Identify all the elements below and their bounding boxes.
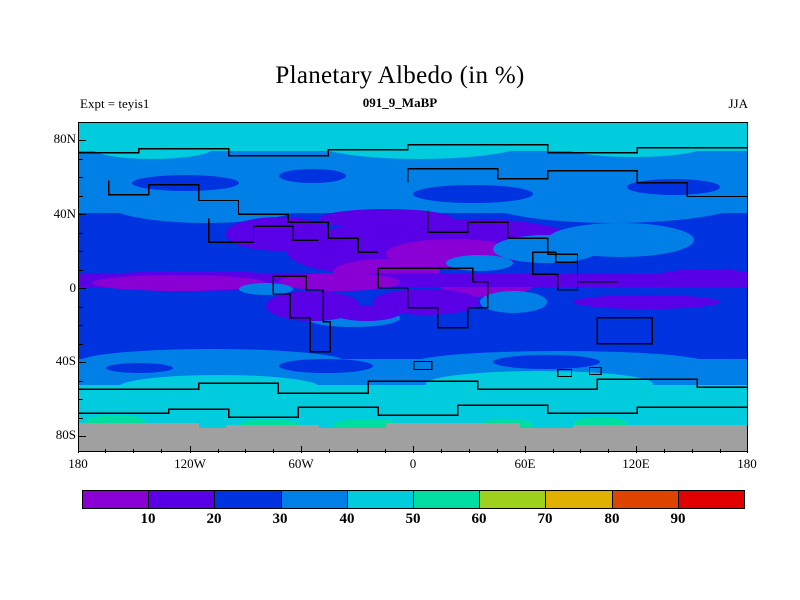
y-tick-0: 0 [16, 280, 76, 296]
y-tick-mark [78, 214, 86, 215]
colorbar-band-60-70 [480, 491, 546, 508]
season-label: JJA [660, 96, 748, 112]
y-tick-40n: 40N [16, 206, 76, 222]
colorbar-label-30: 30 [260, 511, 300, 528]
y-tick-mark [78, 362, 86, 363]
x-tick-180w: 180 [48, 456, 108, 472]
colorbar-band-0-10 [83, 491, 149, 508]
colorbar-band-80-90 [613, 491, 679, 508]
colorbar-band-90-100 [679, 491, 744, 508]
y-tick-mark [78, 307, 83, 308]
y-tick-mark [78, 436, 86, 437]
y-tick-mark [78, 325, 83, 326]
colorbar-label-90: 90 [658, 511, 698, 528]
y-tick-80s: 80S [16, 427, 76, 443]
y-tick-mark [78, 159, 83, 160]
page-title: Planetary Albedo (in %) [0, 62, 800, 90]
x-tick-180e: 180 [717, 456, 777, 472]
colorbar-label-20: 20 [194, 511, 234, 528]
y-tick-mark [78, 233, 83, 234]
colorbar-band-20-30 [215, 491, 281, 508]
x-tick-mark [78, 446, 79, 453]
colorbar-band-40-50 [348, 491, 414, 508]
x-tick-mark [525, 446, 526, 453]
y-tick-mark [78, 344, 83, 345]
x-tick-0: 0 [383, 456, 443, 472]
colorbar-band-70-80 [546, 491, 612, 508]
colorbar-label-80: 80 [592, 511, 632, 528]
colorbar-band-10-20 [149, 491, 215, 508]
experiment-label: Expt = teyis1 [80, 96, 149, 112]
x-tick-mark [747, 446, 748, 453]
x-tick-mark [636, 446, 637, 453]
colorbar-band-50-60 [414, 491, 480, 508]
x-tick-mark [190, 446, 191, 453]
y-tick-80n: 80N [16, 131, 76, 147]
x-tick-mark [413, 446, 414, 453]
colorbar [82, 490, 745, 509]
x-tick-60e: 60E [495, 456, 555, 472]
y-tick-mark [78, 399, 83, 400]
y-tick-mark [78, 418, 83, 419]
y-tick-mark [78, 177, 83, 178]
y-tick-mark [78, 270, 83, 271]
colorbar-band-30-40 [282, 491, 348, 508]
colorbar-label-10: 10 [128, 511, 168, 528]
y-tick-mark [78, 196, 83, 197]
y-tick-mark [78, 381, 83, 382]
y-tick-40s: 40S [16, 353, 76, 369]
map-plot-area [78, 122, 748, 452]
x-tick-120e: 120E [606, 456, 666, 472]
x-tick-60w: 60W [271, 456, 331, 472]
y-tick-mark [78, 140, 86, 141]
colorbar-label-70: 70 [525, 511, 565, 528]
colorbar-label-60: 60 [459, 511, 499, 528]
x-tick-120w: 120W [160, 456, 220, 472]
colorbar-label-50: 50 [393, 511, 433, 528]
x-tick-mark [301, 446, 302, 453]
albedo-map-figure: Planetary Albedo (in %) 091_9_MaBP Expt … [0, 0, 800, 600]
y-tick-mark [78, 288, 86, 289]
colorbar-label-40: 40 [327, 511, 367, 528]
y-tick-mark [78, 251, 83, 252]
coastline-contours [79, 123, 747, 451]
